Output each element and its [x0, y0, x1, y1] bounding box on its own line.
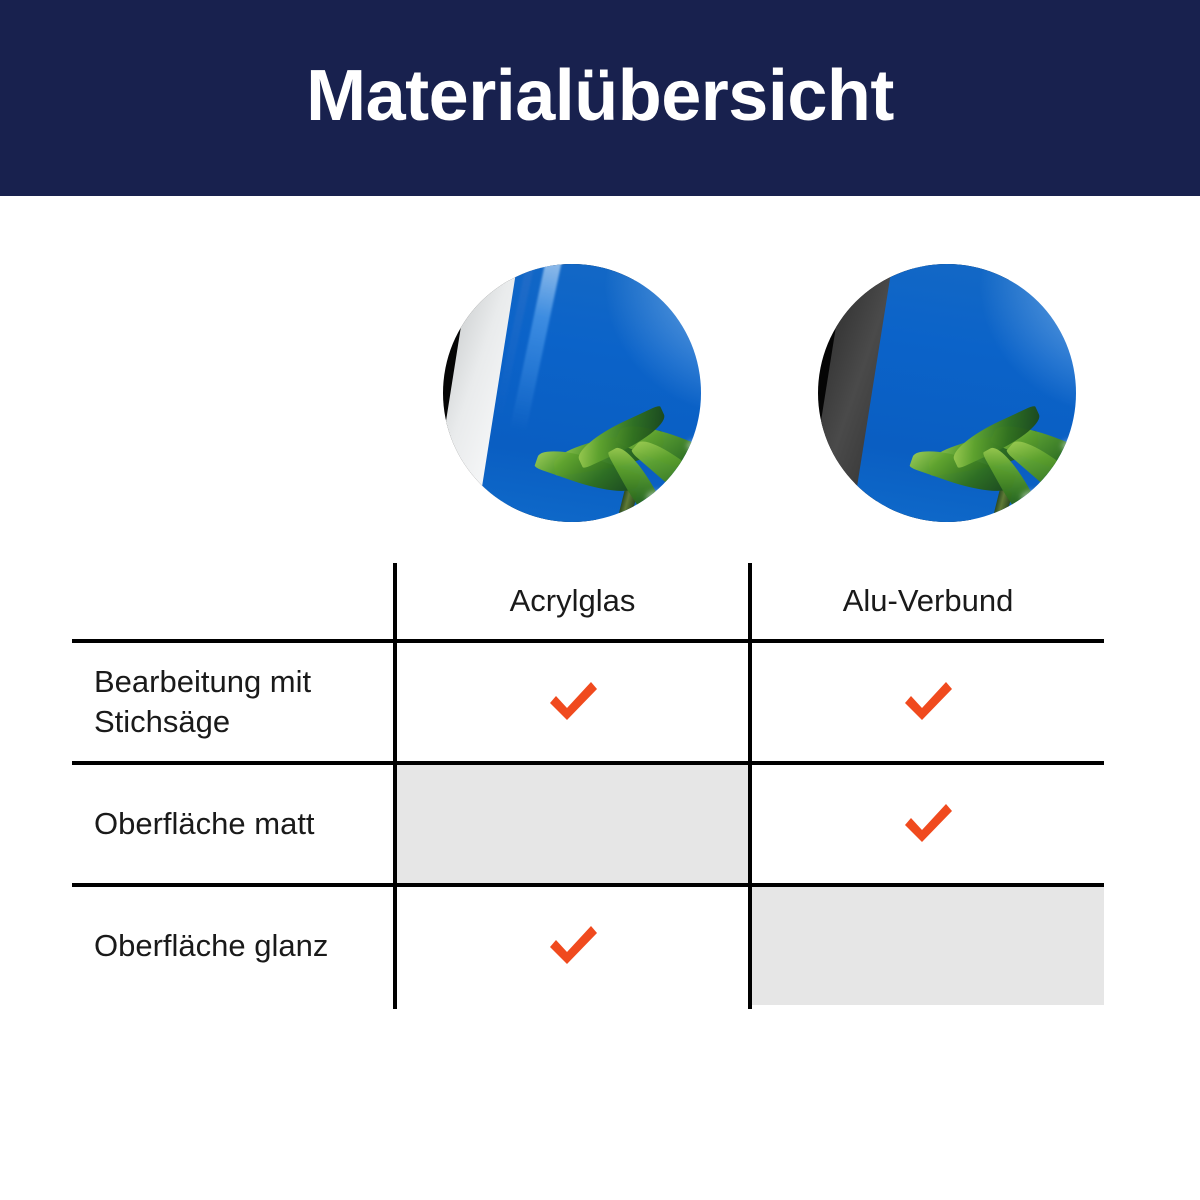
page-title: Materialübersicht	[306, 60, 894, 132]
check-icon	[901, 678, 955, 726]
cell-acrylglas-oberflaeche-glanz	[397, 887, 748, 1005]
gloss-reflection-band	[510, 264, 569, 431]
check-icon	[901, 800, 955, 848]
row-label-bearbeitung-stichsaege: Bearbeitung mit Stichsäge	[94, 643, 393, 761]
column-header-alu-verbund: Alu-Verbund	[752, 563, 1104, 639]
row-label-line-1: Oberfläche glanz	[94, 926, 328, 966]
row-label-oberflaeche-matt: Oberfläche matt	[94, 765, 393, 883]
material-thumbnails	[0, 264, 1200, 522]
row-label-line-2: Stichsäge	[94, 704, 230, 739]
cell-acrylglas-oberflaeche-matt	[397, 765, 748, 883]
alu-verbund-panel-scene	[818, 264, 1076, 522]
cell-acrylglas-bearbeitung-stichsaege	[397, 643, 748, 761]
check-icon	[546, 678, 600, 726]
alu-verbund-thumbnail[interactable]	[818, 264, 1076, 522]
header-banner: Materialübersicht	[0, 0, 1200, 196]
cell-alu-verbund-oberflaeche-glanz	[752, 887, 1104, 1005]
material-overview-page: Materialübersicht	[0, 0, 1200, 1200]
check-icon	[546, 922, 600, 970]
acrylglas-thumbnail[interactable]	[443, 264, 701, 522]
cell-alu-verbund-bearbeitung-stichsaege	[752, 643, 1104, 761]
row-label-oberflaeche-glanz: Oberfläche glanz	[94, 887, 393, 1005]
material-comparison-table: Acrylglas Alu-Verbund Bearbeitung mit St…	[72, 563, 1104, 1009]
row-label-line-1: Oberfläche matt	[94, 804, 315, 844]
row-label-line-1: Bearbeitung mit	[94, 664, 311, 699]
acrylglas-panel-scene	[443, 264, 701, 522]
column-header-acrylglas: Acrylglas	[397, 563, 748, 639]
cell-alu-verbund-oberflaeche-matt	[752, 765, 1104, 883]
